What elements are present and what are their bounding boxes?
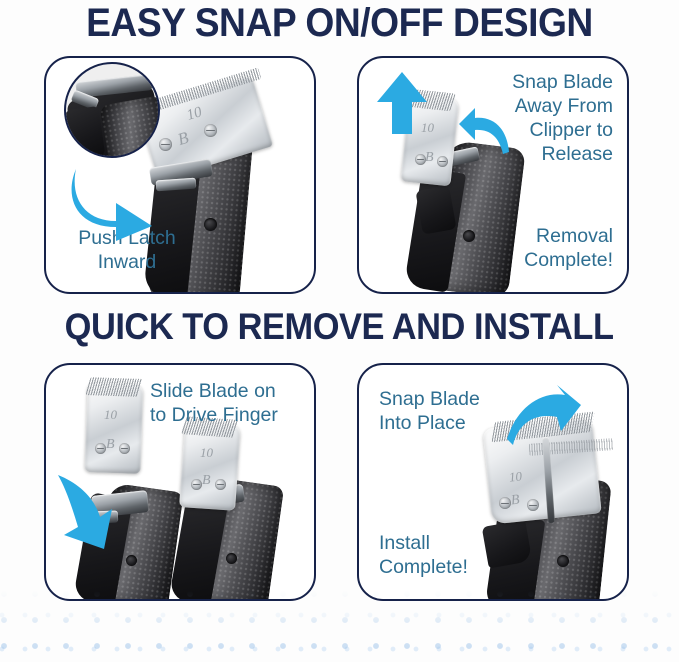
clipper-latch-open — [415, 185, 456, 234]
clipper-lanyard-hole — [204, 218, 217, 231]
blade-screw-left — [159, 138, 172, 151]
clipper-right-lanyard-hole — [226, 553, 237, 564]
curved-arrow-left-icon — [459, 108, 511, 154]
heading-top-text: EASY SNAP ON/OFF DESIGN — [86, 1, 593, 46]
heading-easy-snap-on-off-design: EASY SNAP ON/OFF DESIGN — [0, 1, 679, 46]
infographic-root: EASY SNAP ON/OFF DESIGN 10 B — [0, 0, 679, 662]
inset-grip-texture — [99, 95, 160, 158]
panel-snap-blade-away: 10 B Snap Blade Away From Clipper to Rel… — [357, 56, 629, 294]
panel-snap-blade-into-place: 10 B Snap Blade Into Place Install Compl… — [357, 363, 629, 601]
panel-3-caption: Slide Blade on to Drive Finger — [150, 379, 308, 427]
blade-screw-left — [499, 497, 511, 509]
blade-screw-right-a — [191, 479, 202, 490]
clipper-left-lanyard-hole — [126, 555, 137, 566]
blade-teeth-left — [85, 377, 142, 397]
panel-4-secondary-caption: Install Complete! — [379, 531, 539, 579]
blade-screw-right — [527, 499, 539, 511]
heading-middle-text: QUICK TO REMOVE AND INSTALL — [65, 306, 614, 348]
heading-quick-to-remove-and-install: QUICK TO REMOVE AND INSTALL — [0, 306, 679, 348]
panel-slide-blade-on-to-drive-finger: 10 B 10 B Slide Blade on to Drive Finger — [44, 363, 316, 601]
curved-arrow-down-icon — [54, 475, 112, 551]
blade-screw-right — [437, 156, 448, 167]
detail-inset-circle — [64, 62, 160, 158]
panel-push-latch-inward: 10 B Push Latch Inward — [44, 56, 316, 294]
straight-arrow-up-icon — [375, 72, 429, 134]
blade-screw-right-b — [215, 479, 226, 490]
blade-screw-left-a — [95, 443, 106, 454]
clipper-lanyard-hole — [557, 555, 569, 567]
blade-screw-left-b — [119, 443, 130, 454]
blade-screw-right — [204, 124, 217, 137]
curved-arrow-down-right-icon — [507, 389, 581, 445]
panel-2-secondary-caption: Removal Complete! — [465, 224, 613, 272]
curved-arrow-right-icon — [68, 163, 158, 241]
inset-shadow — [65, 106, 106, 158]
blade-screw-left — [415, 154, 426, 165]
